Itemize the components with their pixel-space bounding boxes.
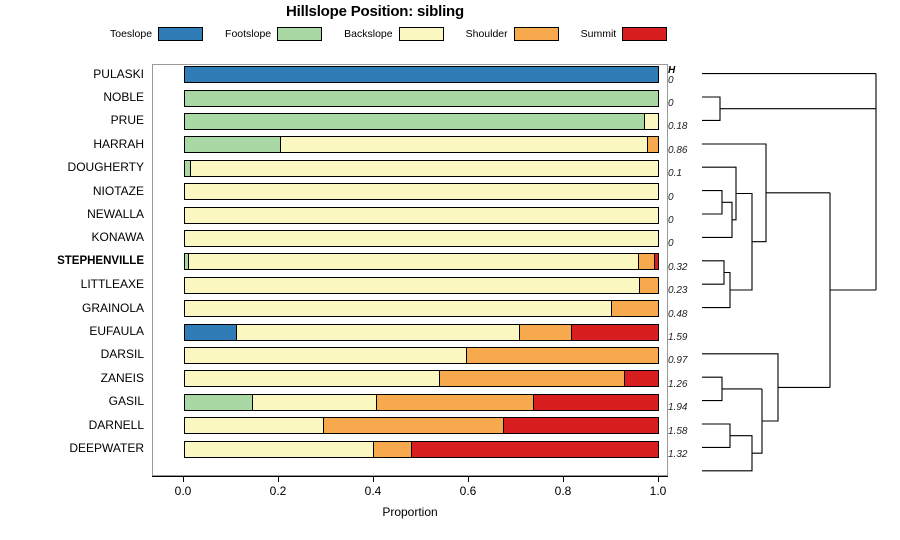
legend-item-footslope: Footslope xyxy=(225,27,322,41)
h-value: 0.48 xyxy=(668,309,687,320)
h-value: 0.97 xyxy=(668,355,687,366)
stacked-bar-row[interactable] xyxy=(184,347,659,364)
row-label-darsil: DARSIL xyxy=(101,347,144,361)
h-value: 0 xyxy=(668,238,674,249)
chart-root: Hillslope Position: sibling ToeslopeFoot… xyxy=(0,0,900,540)
stacked-bar-row[interactable] xyxy=(184,207,659,224)
row-label-stephenville: STEPHENVILLE xyxy=(57,254,144,268)
x-tick xyxy=(468,476,469,482)
bar-segment-backslope xyxy=(185,231,658,246)
h-value: 1.32 xyxy=(668,449,687,460)
bar-segment-backslope xyxy=(185,371,440,386)
x-axis-label: Proportion xyxy=(152,505,668,519)
row-label-darnell: DARNELL xyxy=(89,418,144,432)
row-label-littleaxe: LITTLEAXE xyxy=(81,277,144,291)
row-label-harrah: HARRAH xyxy=(93,137,144,151)
x-tick-label: 0.6 xyxy=(448,484,488,498)
bar-segment-backslope xyxy=(185,442,374,457)
h-value: 1.59 xyxy=(668,332,687,343)
bar-segment-shoulder xyxy=(467,348,658,363)
h-value: 0.1 xyxy=(668,168,682,179)
h-value: 0 xyxy=(668,75,674,86)
row-label-zaneis: ZANEIS xyxy=(101,371,144,385)
bar-segment-shoulder xyxy=(374,442,412,457)
legend-label: Backslope xyxy=(344,28,392,40)
row-label-dougherty: DOUGHERTY xyxy=(68,160,144,174)
bar-segment-backslope xyxy=(253,395,376,410)
bar-segment-shoulder xyxy=(520,325,572,340)
bar-segment-summit xyxy=(572,325,658,340)
x-axis-line xyxy=(152,476,668,477)
bar-segment-backslope xyxy=(189,254,639,269)
row-label-konawa: KONAWA xyxy=(92,230,144,244)
legend: ToeslopeFootslopeBackslopeShoulderSummit xyxy=(110,25,720,43)
bar-segment-shoulder xyxy=(324,418,505,433)
legend-item-backslope: Backslope xyxy=(344,27,443,41)
plot-panel xyxy=(152,64,668,476)
row-label-eufaula: EUFAULA xyxy=(89,324,144,338)
legend-swatch xyxy=(399,27,444,41)
bar-segment-summit xyxy=(534,395,658,410)
x-tick-label: 0.4 xyxy=(353,484,393,498)
x-tick-label: 0.8 xyxy=(543,484,583,498)
stacked-bar-row[interactable] xyxy=(184,441,659,458)
legend-item-toeslope: Toeslope xyxy=(110,27,203,41)
stacked-bar-row[interactable] xyxy=(184,370,659,387)
x-tick-label: 0.0 xyxy=(163,484,203,498)
x-tick xyxy=(183,476,184,482)
page-title: Hillslope Position: sibling xyxy=(0,3,750,20)
bar-segment-backslope xyxy=(185,301,612,316)
stacked-bar-row[interactable] xyxy=(184,90,659,107)
h-value: 0 xyxy=(668,192,674,203)
row-label-gasil: GASIL xyxy=(109,394,144,408)
h-value: 0.86 xyxy=(668,145,687,156)
x-tick xyxy=(563,476,564,482)
row-label-niotaze: NIOTAZE xyxy=(93,184,144,198)
h-value: 0.23 xyxy=(668,285,687,296)
row-label-newalla: NEWALLA xyxy=(87,207,144,221)
bar-segment-backslope xyxy=(185,278,640,293)
h-value: 0.18 xyxy=(668,121,687,132)
stacked-bar-row[interactable] xyxy=(184,113,659,130)
stacked-bar-row[interactable] xyxy=(184,324,659,341)
h-value: 1.26 xyxy=(668,379,687,390)
stacked-bar-row[interactable] xyxy=(184,136,659,153)
bar-segment-summit xyxy=(504,418,658,433)
legend-swatch xyxy=(514,27,559,41)
stacked-bar-row[interactable] xyxy=(184,253,659,270)
stacked-bar-row[interactable] xyxy=(184,300,659,317)
bar-segment-backslope xyxy=(185,418,324,433)
stacked-bar-row[interactable] xyxy=(184,394,659,411)
stacked-bar-row[interactable] xyxy=(184,160,659,177)
bar-segment-backslope xyxy=(191,161,658,176)
row-label-column: PULASKINOBLEPRUEHARRAHDOUGHERTYNIOTAZENE… xyxy=(0,64,148,476)
bar-segment-backslope xyxy=(185,208,658,223)
bar-segment-footslope xyxy=(185,137,281,152)
bar-segment-backslope xyxy=(237,325,521,340)
legend-swatch xyxy=(277,27,322,41)
bar-segment-summit xyxy=(655,254,658,269)
x-tick-label: 0.2 xyxy=(258,484,298,498)
bar-segment-shoulder xyxy=(377,395,535,410)
legend-label: Shoulder xyxy=(466,28,508,40)
legend-label: Toeslope xyxy=(110,28,152,40)
stacked-bar-row[interactable] xyxy=(184,277,659,294)
bar-segment-shoulder xyxy=(639,254,655,269)
bar-segment-shoulder xyxy=(612,301,658,316)
dendrogram xyxy=(700,64,898,476)
h-value: 1.94 xyxy=(668,402,687,413)
bar-segment-shoulder xyxy=(648,137,658,152)
legend-label: Summit xyxy=(581,28,617,40)
bar-segment-footslope xyxy=(185,91,658,106)
bar-segment-shoulder xyxy=(440,371,624,386)
row-label-grainola: GRAINOLA xyxy=(82,301,144,315)
x-tick xyxy=(278,476,279,482)
bar-segment-backslope xyxy=(185,348,467,363)
h-value: 0.32 xyxy=(668,262,687,273)
dendrogram-svg xyxy=(700,64,898,476)
legend-item-summit: Summit xyxy=(581,27,668,41)
bar-segment-summit xyxy=(412,442,658,457)
bar-segment-backslope xyxy=(281,137,648,152)
stacked-bar-row[interactable] xyxy=(184,417,659,434)
bar-segment-toeslope xyxy=(185,67,658,82)
row-label-deepwater: DEEPWATER xyxy=(69,441,144,455)
bar-segment-summit xyxy=(625,371,658,386)
row-label-noble: NOBLE xyxy=(103,90,144,104)
bar-segment-toeslope xyxy=(185,325,237,340)
legend-label: Footslope xyxy=(225,28,271,40)
row-label-prue: PRUE xyxy=(111,113,144,127)
h-value: 1.58 xyxy=(668,426,687,437)
h-value: 0 xyxy=(668,98,674,109)
bar-segment-backslope xyxy=(645,114,658,129)
x-tick-label: 1.0 xyxy=(638,484,678,498)
row-label-pulaski: PULASKI xyxy=(93,67,144,81)
legend-swatch xyxy=(158,27,203,41)
stacked-bar-row[interactable] xyxy=(184,183,659,200)
stacked-bars xyxy=(153,65,669,477)
legend-item-shoulder: Shoulder xyxy=(466,27,559,41)
bar-segment-shoulder xyxy=(640,278,658,293)
legend-swatch xyxy=(622,27,667,41)
h-value: 0 xyxy=(668,215,674,226)
bar-segment-footslope xyxy=(185,114,645,129)
x-tick xyxy=(373,476,374,482)
x-tick xyxy=(658,476,659,482)
stacked-bar-row[interactable] xyxy=(184,230,659,247)
h-column: H 000.180.860.10000.320.230.481.590.971.… xyxy=(664,64,704,476)
bar-segment-backslope xyxy=(185,184,658,199)
bar-segment-footslope xyxy=(185,395,253,410)
stacked-bar-row[interactable] xyxy=(184,66,659,83)
